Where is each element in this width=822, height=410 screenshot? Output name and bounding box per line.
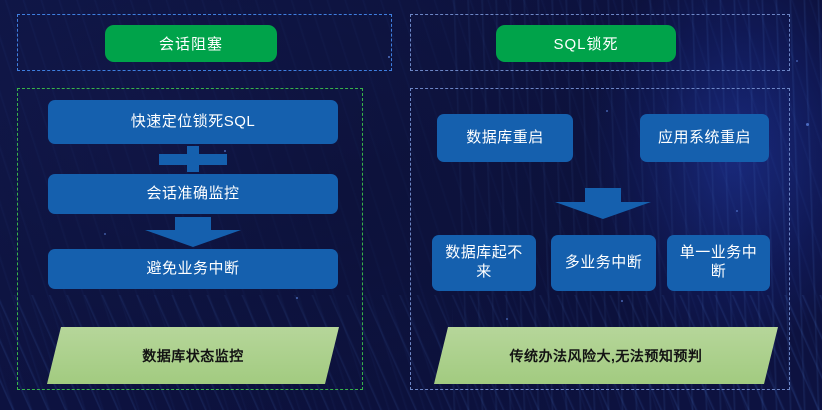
right-outcome-3-box[interactable]: 单一业务中断 [667, 235, 770, 291]
left-header-label: 会话阻塞 [159, 33, 223, 54]
right-summary-banner[interactable]: 传统办法风险大,无法预知预判 [434, 327, 778, 384]
left-summary-label: 数据库状态监控 [142, 346, 244, 366]
arrow-down-icon [555, 188, 651, 220]
left-step-3-box[interactable]: 避免业务中断 [48, 249, 338, 289]
right-header-label: SQL锁死 [553, 33, 618, 54]
left-step-3-label: 避免业务中断 [146, 260, 239, 279]
left-step-2-label: 会话准确监控 [146, 185, 239, 204]
right-outcome-2-label: 多业务中断 [565, 254, 643, 273]
right-header-badge[interactable]: SQL锁死 [496, 25, 676, 62]
left-step-1-label: 快速定位锁死SQL [131, 113, 256, 132]
slide-canvas: 会话阻塞 SQL锁死 快速定位锁死SQL 会话准确监控 避免业务中断 [0, 0, 822, 410]
left-step-2-box[interactable]: 会话准确监控 [48, 174, 338, 214]
right-outcome-1-label: 数据库起不来 [438, 244, 530, 282]
arrow-down-icon [145, 217, 241, 247]
right-summary-label: 传统办法风险大,无法预知预判 [510, 346, 703, 366]
right-outcome-1-box[interactable]: 数据库起不来 [432, 235, 536, 291]
right-cause-1-label: 数据库重启 [466, 129, 544, 148]
left-step-1-box[interactable]: 快速定位锁死SQL [48, 100, 338, 144]
background-particle [806, 123, 809, 126]
right-cause-2-box[interactable]: 应用系统重启 [640, 114, 769, 162]
left-summary-banner[interactable]: 数据库状态监控 [47, 327, 339, 384]
right-outcome-2-box[interactable]: 多业务中断 [551, 235, 656, 291]
right-cause-2-label: 应用系统重启 [658, 129, 751, 148]
background-particle [796, 60, 798, 62]
right-outcome-3-label: 单一业务中断 [673, 244, 764, 282]
left-header-badge[interactable]: 会话阻塞 [105, 25, 277, 62]
right-cause-1-box[interactable]: 数据库重启 [437, 114, 573, 162]
plus-icon [159, 146, 227, 172]
